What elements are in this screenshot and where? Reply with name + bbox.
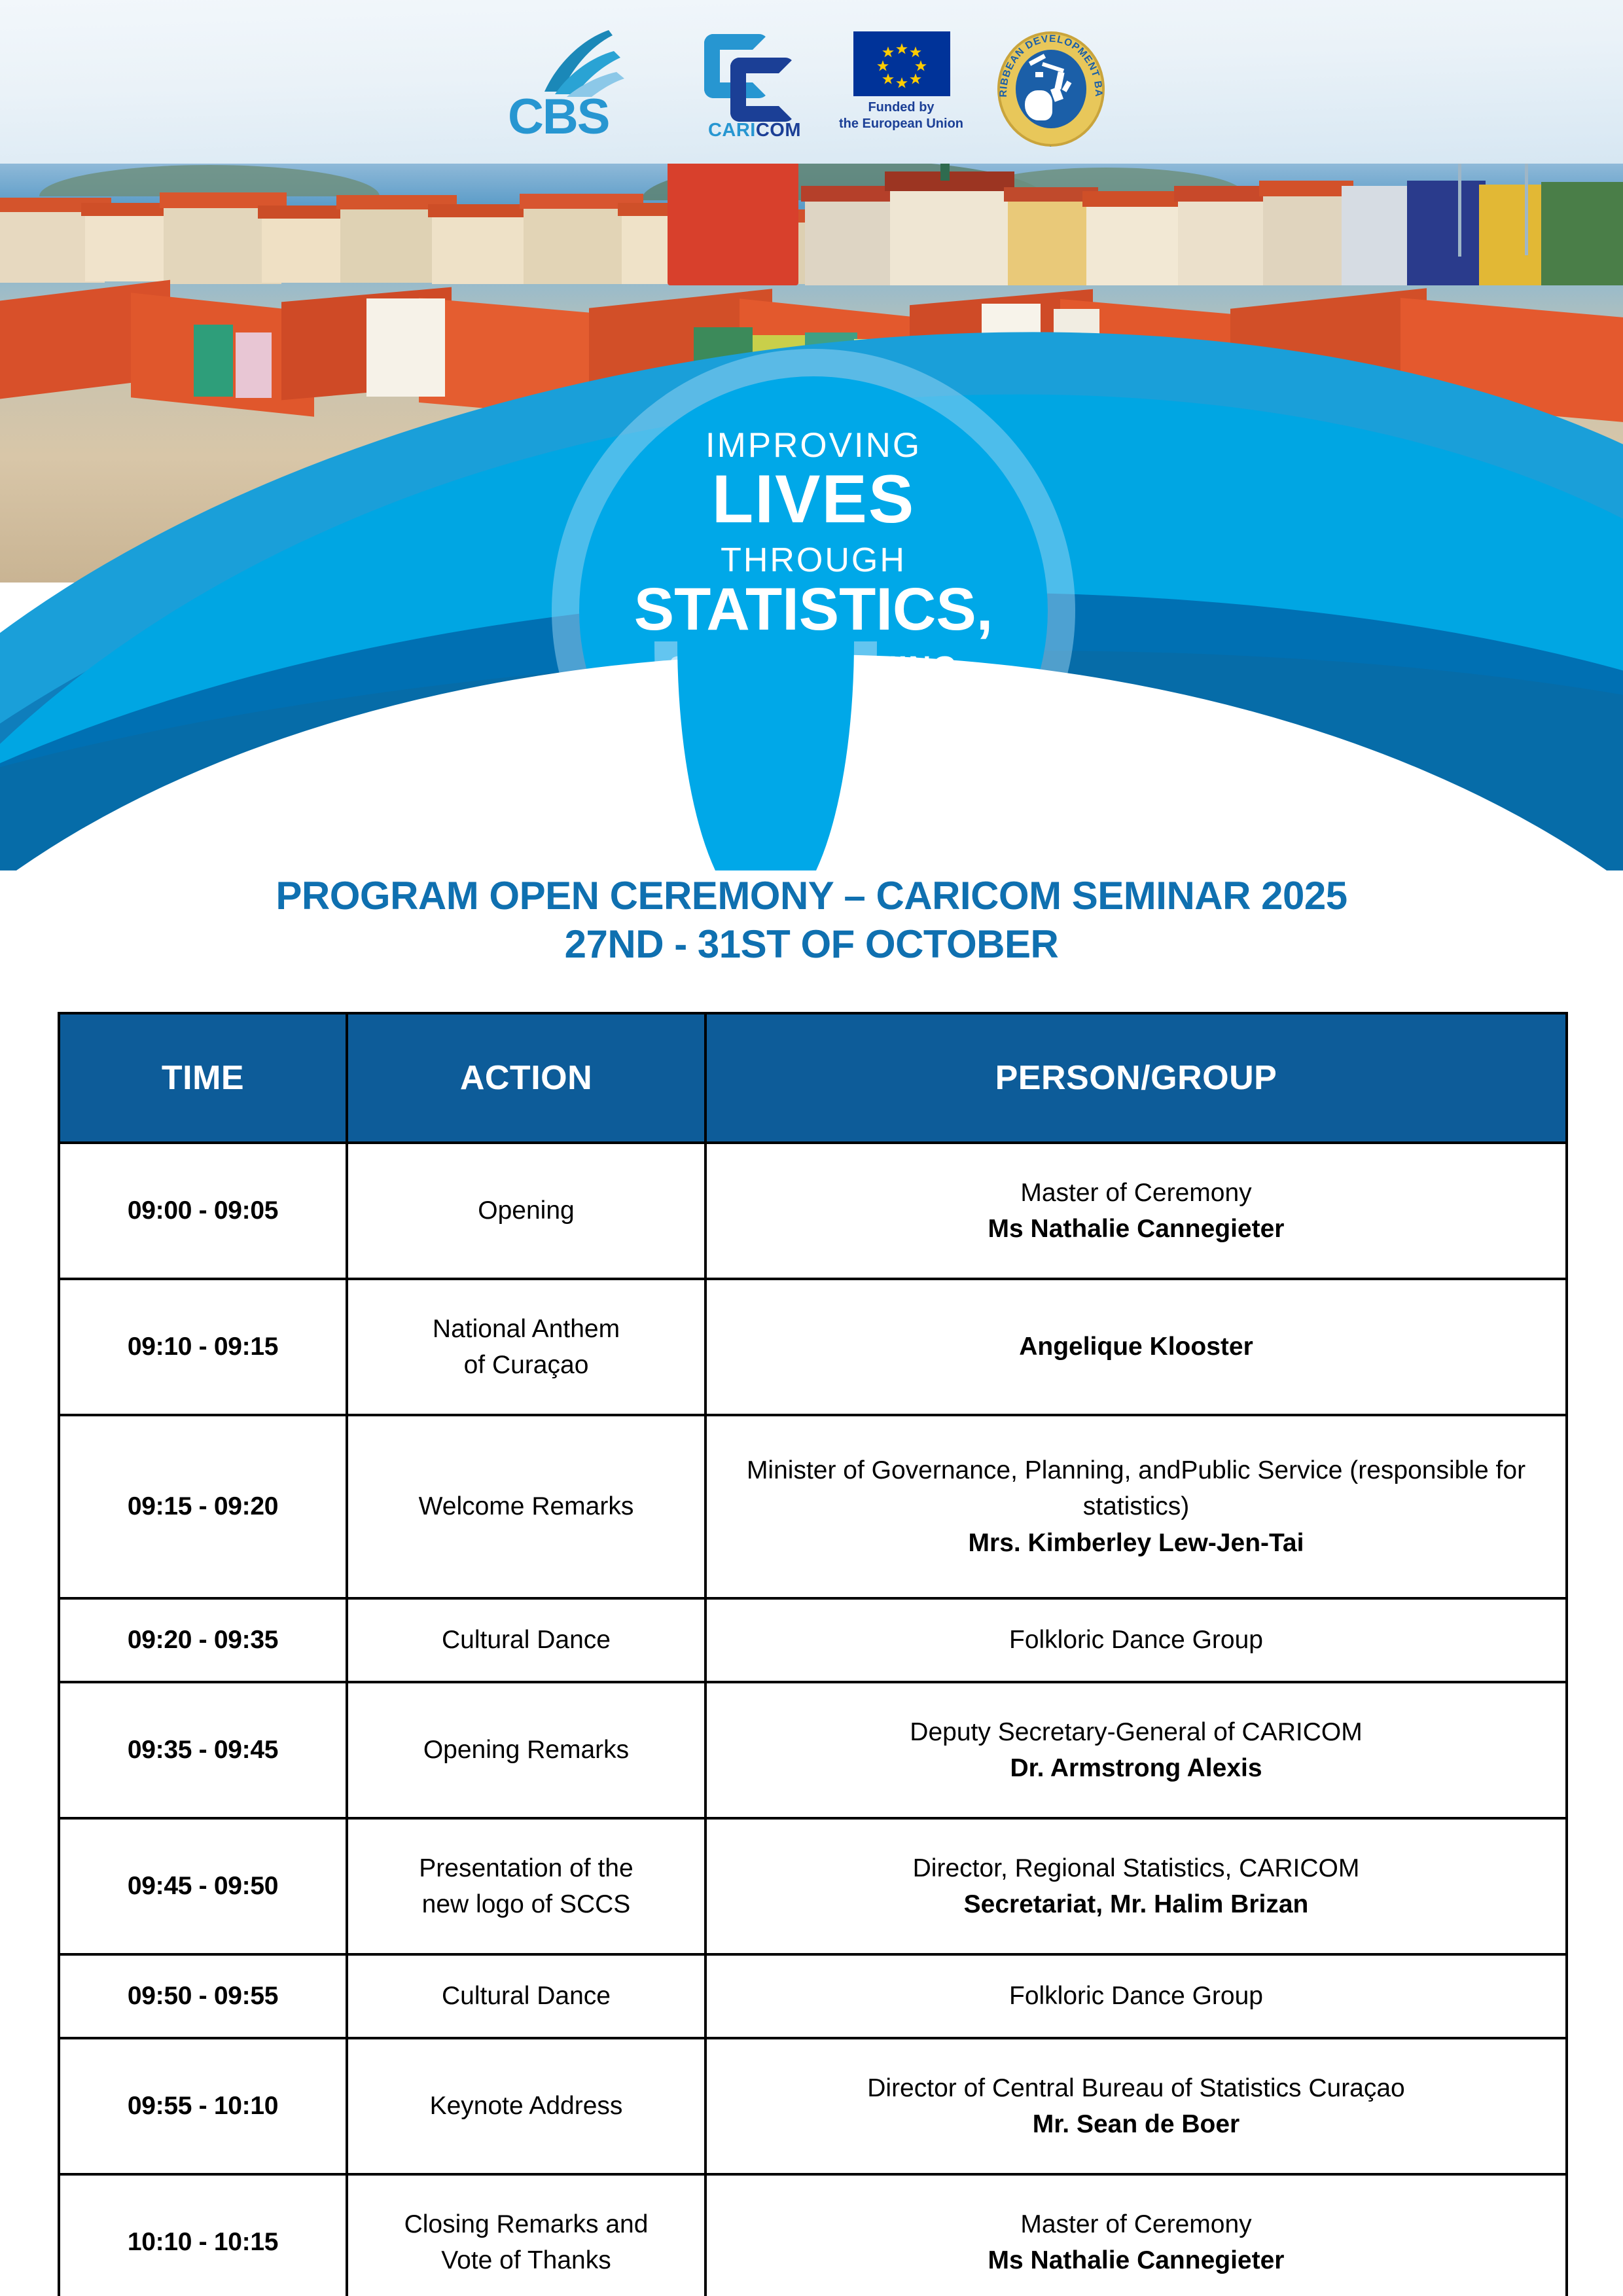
table-row: 09:15 - 09:20Welcome RemarksMinister of … [59, 1415, 1567, 1598]
action-line: Vote of Thanks [359, 2242, 694, 2278]
page-title-line-1: PROGRAM OPEN CEREMONY – CARICOM SEMINAR … [0, 874, 1623, 918]
cell-time: 10:10 - 10:15 [59, 2174, 347, 2296]
action-line: Cultural Dance [359, 1622, 694, 1658]
cell-action: Presentation of thenew logo of SCCS [347, 1818, 705, 1954]
eu-caption-line-2: the European Union [839, 116, 963, 132]
eu-flag-icon [853, 31, 950, 96]
page-title: PROGRAM OPEN CEREMONY – CARICOM SEMINAR … [0, 874, 1623, 967]
table-body: 09:00 - 09:05OpeningMaster of CeremonyMs… [59, 1143, 1567, 2296]
cell-person-group: Minister of Governance, Planning, andPub… [705, 1415, 1567, 1598]
table-row: 09:35 - 09:45Opening RemarksDeputy Secre… [59, 1682, 1567, 1818]
cell-time: 09:15 - 09:20 [59, 1415, 347, 1598]
action-line: Welcome Remarks [359, 1488, 694, 1524]
action-line: Cultural Dance [359, 1978, 694, 2014]
svg-text:·: · [1050, 143, 1053, 147]
page-title-line-2: 27ND - 31ST OF OCTOBER [0, 922, 1623, 967]
person-line: Director, Regional Statistics, CARICOM [913, 1854, 1360, 1882]
eu-funding-caption: Funded by the European Union [839, 99, 963, 132]
cell-person-group: Director of Central Bureau of Statistics… [705, 2038, 1567, 2174]
cell-action: National Anthemof Curaçao [347, 1279, 705, 1415]
person-name: Mr. Sean de Boer [717, 2106, 1555, 2142]
eu-caption-line-1: Funded by [839, 99, 963, 116]
cell-action: Opening [347, 1143, 705, 1279]
person-line: Master of Ceremony [1020, 2210, 1251, 2238]
action-line: Opening [359, 1193, 694, 1229]
emblem-tongue [677, 641, 854, 870]
table-header-row: TIME ACTION PERSON/GROUP [59, 1013, 1567, 1143]
caricom-wordmark-part-a: CARI [708, 120, 756, 141]
cell-time: 09:35 - 09:45 [59, 1682, 347, 1818]
person-name: Mrs. Kimberley Lew-Jen-Tai [717, 1525, 1555, 1561]
action-line: Opening Remarks [359, 1732, 694, 1768]
column-header-action: ACTION [347, 1013, 705, 1143]
action-line: Keynote Address [359, 2088, 694, 2124]
slogan-line-3: THROUGH [721, 543, 906, 579]
cdb-arc-text: CARIBBEAN DEVELOPMENT BANK · [997, 31, 1105, 147]
cell-action: Welcome Remarks [347, 1415, 705, 1598]
program-flyer: IMPROVING LIVES THROUGH STATISTICS, STRE… [0, 0, 1623, 2296]
person-name: Dr. Armstrong Alexis [717, 1750, 1555, 1786]
person-name: Ms Nathalie Cannegieter [717, 2242, 1555, 2278]
table-row: 10:10 - 10:15Closing Remarks andVote of … [59, 2174, 1567, 2296]
cell-action: Opening Remarks [347, 1682, 705, 1818]
program-table-wrapper: TIME ACTION PERSON/GROUP 09:00 - 09:05Op… [58, 1012, 1565, 2296]
svg-text:CARIBBEAN DEVELOPMENT BANK: CARIBBEAN DEVELOPMENT BANK [997, 31, 1104, 98]
cell-action: Cultural Dance [347, 1954, 705, 2038]
person-name: Ms Nathalie Cannegieter [717, 1211, 1555, 1247]
cell-time: 09:55 - 10:10 [59, 2038, 347, 2174]
cell-person-group: Master of CeremonyMs Nathalie Cannegiete… [705, 1143, 1567, 1279]
eu-funding-logo: Funded by the European Union [839, 31, 963, 149]
caricom-wordmark-part-b: COM [756, 120, 801, 141]
slogan-line-4: STATISTICS, [634, 579, 993, 639]
person-name: Secretariat, Mr. Halim Brizan [717, 1886, 1555, 1922]
action-line: of Curaçao [359, 1347, 694, 1383]
person-line: Director of Central Bureau of Statistics… [867, 2074, 1405, 2102]
column-header-person: PERSON/GROUP [705, 1013, 1567, 1143]
action-line: National Anthem [359, 1311, 694, 1347]
cell-person-group: Director, Regional Statistics, CARICOMSe… [705, 1818, 1567, 1954]
cell-action: Cultural Dance [347, 1598, 705, 1682]
person-line: Deputy Secretary-General of CARICOM [910, 1718, 1362, 1746]
cell-time: 09:20 - 09:35 [59, 1598, 347, 1682]
caricom-wordmark: CARICOM [699, 120, 810, 141]
hero-banner: IMPROVING LIVES THROUGH STATISTICS, STRE… [0, 0, 1623, 870]
cbs-wordmark: CBS [508, 88, 671, 145]
caricom-c-inner-icon [730, 58, 794, 122]
program-table: TIME ACTION PERSON/GROUP 09:00 - 09:05Op… [58, 1012, 1568, 2296]
cell-person-group: Master of CeremonyMs Nathalie Cannegiete… [705, 2174, 1567, 2296]
table-row: 09:45 - 09:50Presentation of thenew logo… [59, 1818, 1567, 1954]
table-row: 09:10 - 09:15National Anthemof CuraçaoAn… [59, 1279, 1567, 1415]
cell-time: 09:10 - 09:15 [59, 1279, 347, 1415]
slogan-line-2: LIVES [712, 465, 916, 533]
person-name: Angelique Klooster [717, 1329, 1555, 1365]
cell-action: Closing Remarks andVote of Thanks [347, 2174, 705, 2296]
table-row: 09:00 - 09:05OpeningMaster of CeremonyMs… [59, 1143, 1567, 1279]
logo-strip: CBS CARICOM [0, 31, 1623, 162]
action-line: new logo of SCCS [359, 1886, 694, 1922]
person-line: Folkloric Dance Group [1009, 1626, 1263, 1654]
table-row: 09:20 - 09:35Cultural DanceFolkloric Dan… [59, 1598, 1567, 1682]
column-header-time: TIME [59, 1013, 347, 1143]
table-row: 09:50 - 09:55Cultural DanceFolkloric Dan… [59, 1954, 1567, 2038]
person-line: Minister of Governance, Planning, and [747, 1456, 1181, 1484]
cell-person-group: Angelique Klooster [705, 1279, 1567, 1415]
cell-person-group: Folkloric Dance Group [705, 1954, 1567, 2038]
cbs-logo: CBS [513, 31, 670, 149]
action-line: Presentation of the [359, 1850, 694, 1886]
caricom-logo: CARICOM [699, 31, 810, 149]
person-line: Master of Ceremony [1020, 1179, 1251, 1207]
cell-person-group: Deputy Secretary-General of CARICOMDr. A… [705, 1682, 1567, 1818]
cell-time: 09:50 - 09:55 [59, 1954, 347, 2038]
cell-time: 09:00 - 09:05 [59, 1143, 347, 1279]
cell-action: Keynote Address [347, 2038, 705, 2174]
action-line: Closing Remarks and [359, 2206, 694, 2242]
cell-time: 09:45 - 09:50 [59, 1818, 347, 1954]
caribbean-development-bank-logo: CARIBBEAN DEVELOPMENT BANK · [992, 31, 1110, 149]
slogan-line-1: IMPROVING [705, 427, 921, 464]
cell-person-group: Folkloric Dance Group [705, 1598, 1567, 1682]
person-line: Folkloric Dance Group [1009, 1982, 1263, 2010]
table-row: 09:55 - 10:10Keynote AddressDirector of … [59, 2038, 1567, 2174]
